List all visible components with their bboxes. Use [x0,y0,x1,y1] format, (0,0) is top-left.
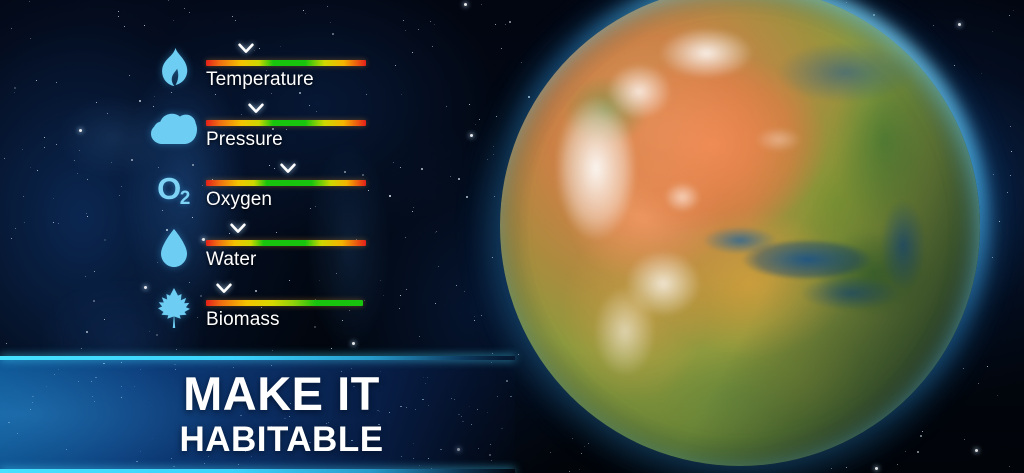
chevron-down-icon[interactable] [216,283,232,294]
gauge-bar-water [206,240,366,246]
stat-row-pressure[interactable]: Pressure [150,100,390,160]
stat-label-pressure: Pressure [206,129,283,151]
chevron-down-icon[interactable] [280,163,296,174]
planet-stats-panel: TemperaturePressureO2OxygenWaterBiomass [150,40,390,340]
scene-root: TemperaturePressureO2OxygenWaterBiomass … [0,0,1024,473]
planet-sphere [500,0,980,466]
headline-secondary: HABITABLE [179,421,383,460]
flame-icon [150,42,198,94]
gauge-bar-temperature [206,60,366,66]
stat-label-oxygen: Oxygen [206,189,272,211]
stat-row-biomass[interactable]: Biomass [150,280,390,340]
headline-banner: MAKE IT HABITABLE [0,356,515,473]
maple-leaf-icon [150,282,198,334]
water-drop-icon [150,222,198,274]
stat-label-temperature: Temperature [206,69,314,91]
gauge-bar-oxygen [206,180,366,186]
stat-label-water: Water [206,249,256,271]
gauge-pressure[interactable] [206,120,366,126]
cloud-icon [150,102,198,154]
planet [500,0,980,466]
gauge-temperature[interactable] [206,60,366,66]
planet-inner-rim [500,0,980,466]
gauge-bar-pressure [206,120,366,126]
chevron-down-icon[interactable] [230,223,246,234]
banner-text-block: MAKE IT HABITABLE [0,356,515,473]
gauge-water[interactable] [206,240,366,246]
gauge-biomass[interactable] [206,300,366,306]
chevron-down-icon[interactable] [238,43,254,54]
stat-row-oxygen[interactable]: O2Oxygen [150,160,390,220]
gauge-oxygen[interactable] [206,180,366,186]
o2-icon: O2 [150,162,198,214]
stat-row-temperature[interactable]: Temperature [150,40,390,100]
chevron-down-icon[interactable] [248,103,264,114]
headline-primary: MAKE IT [183,370,380,418]
stat-label-biomass: Biomass [206,309,280,331]
stat-row-water[interactable]: Water [150,220,390,280]
gauge-bar-biomass [206,300,363,306]
